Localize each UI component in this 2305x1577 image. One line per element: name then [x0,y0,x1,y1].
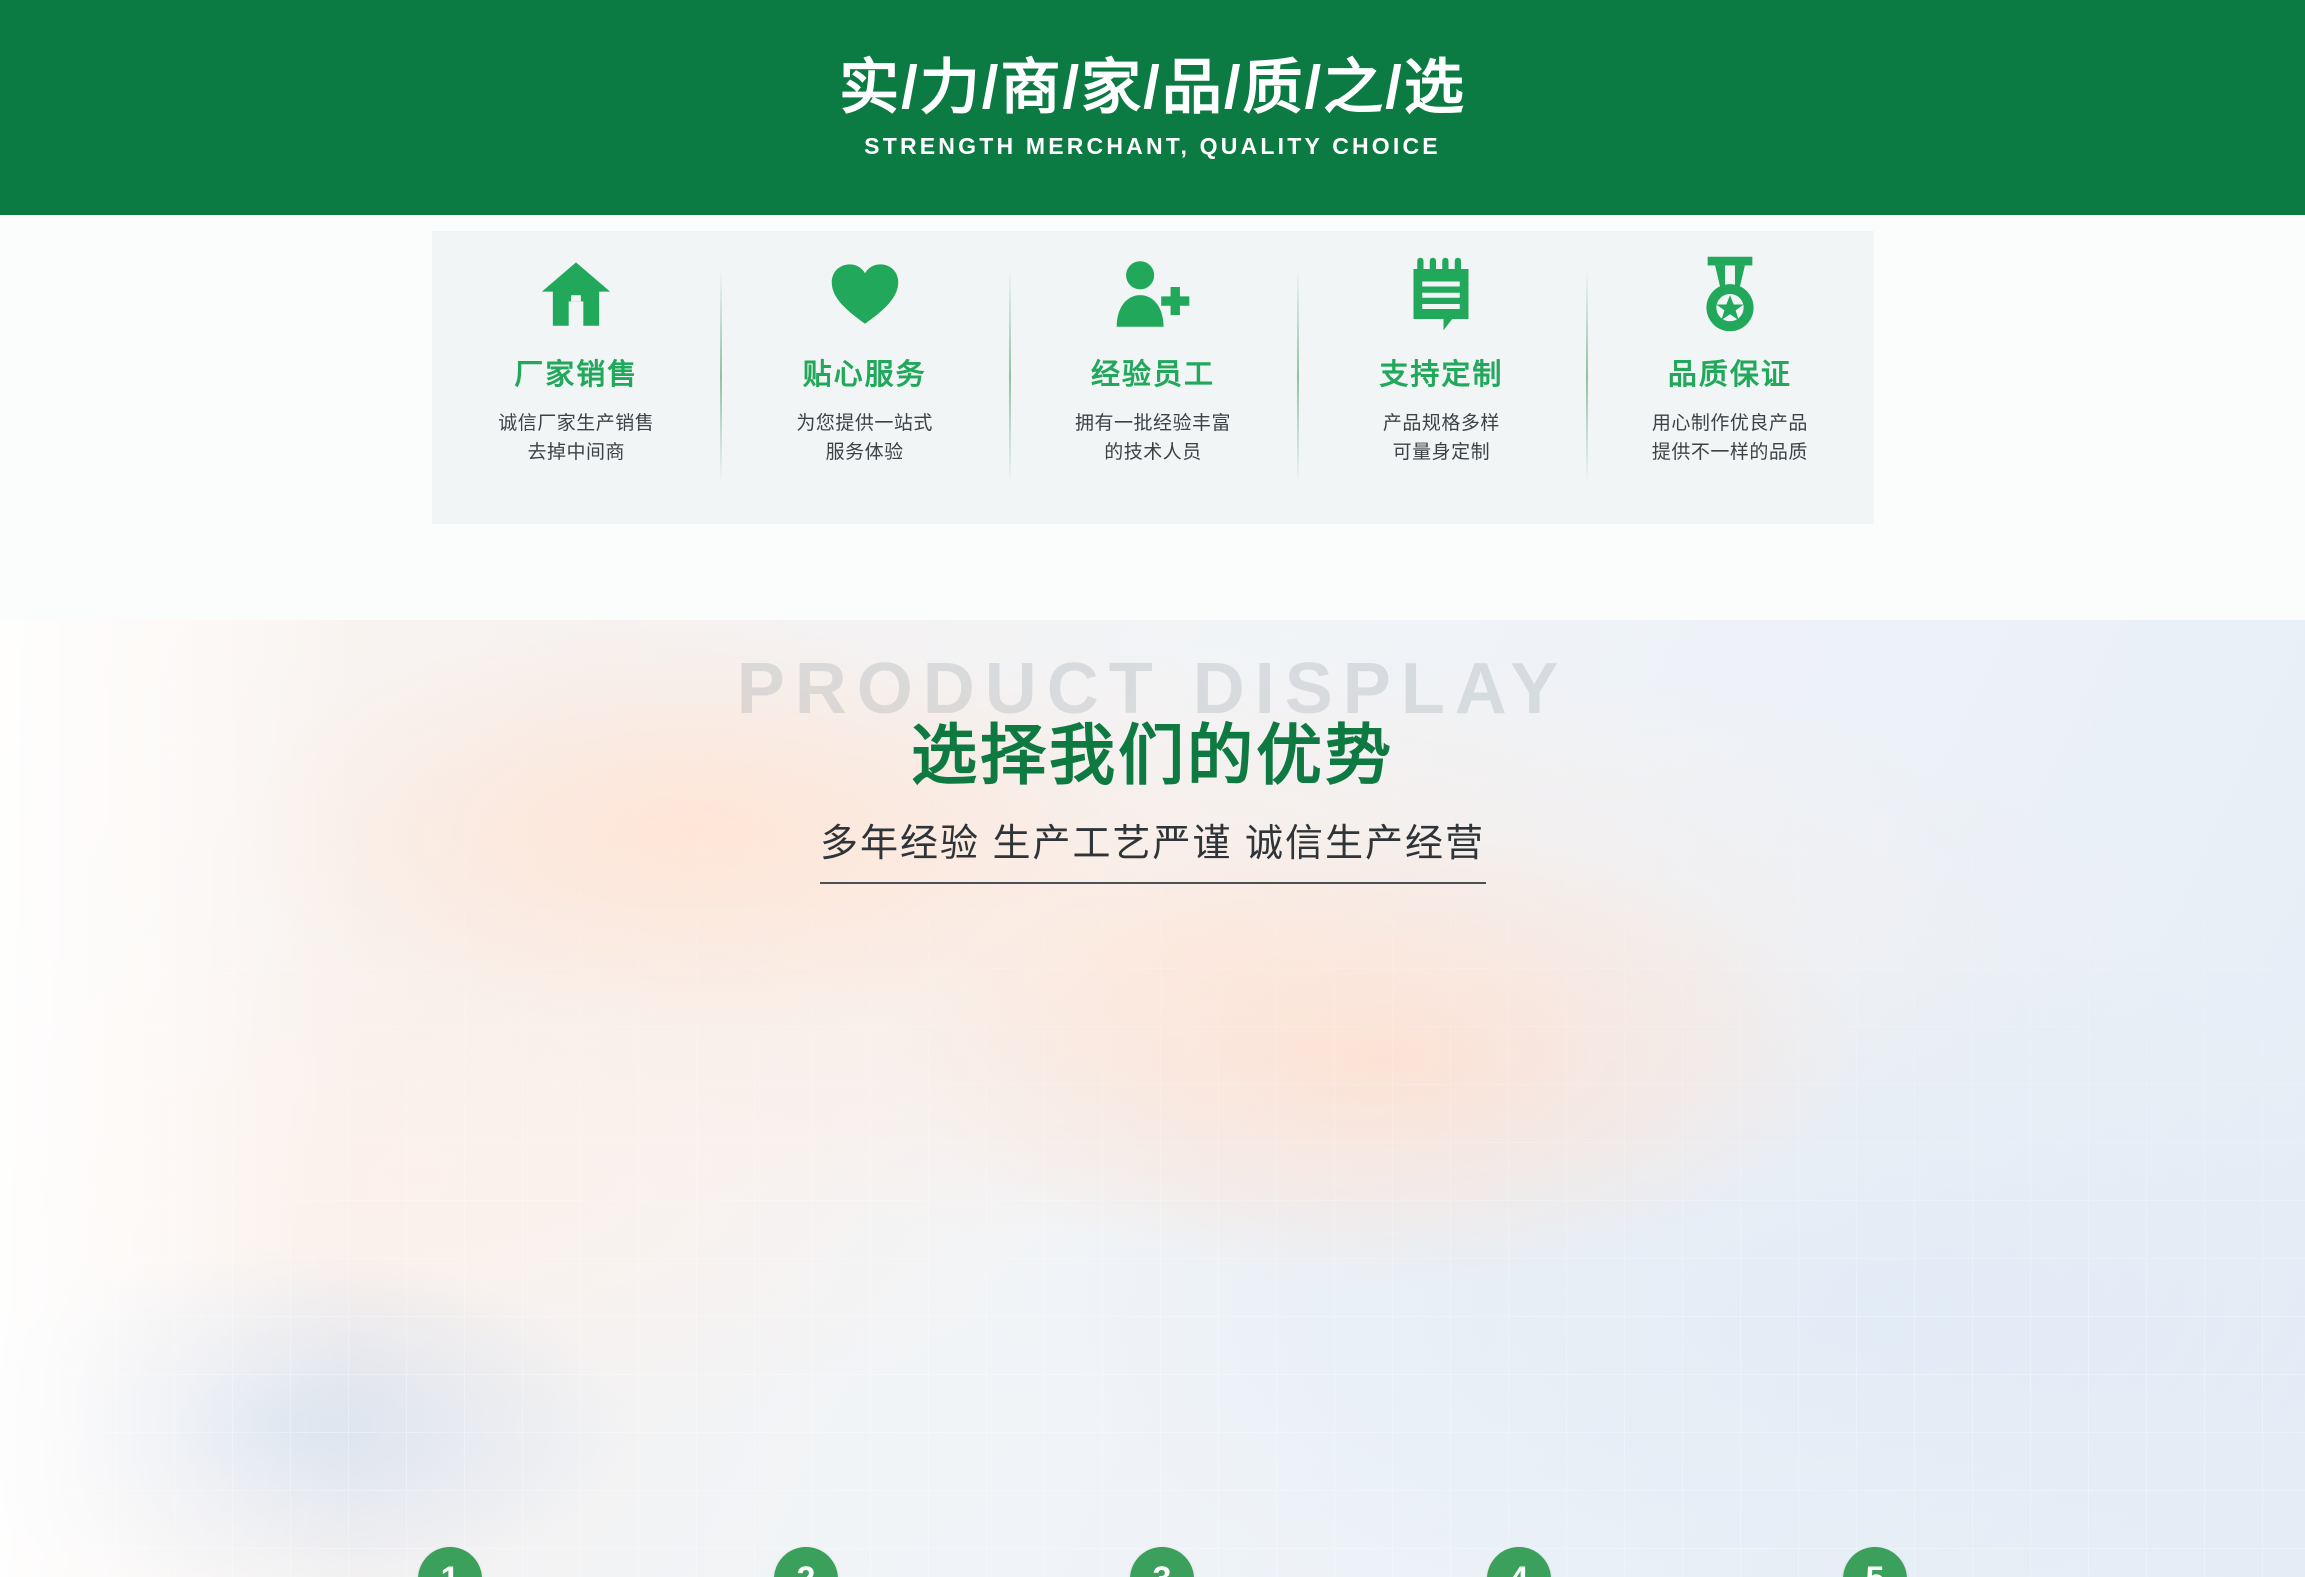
advantages-subtitle: 多年经验 生产工艺严谨 诚信生产经营 [0,812,2305,867]
advantages-title: 选择我们的优势 [0,702,2305,798]
feature-item-experienced-staff[interactable]: 经验员工 拥有一批经验丰富 的技术人员 [1009,231,1297,524]
feature-item-quality-guarantee[interactable]: 品质保证 用心制作优良产品 提供不一样的品质 [1586,231,1874,524]
user-plus-icon [1112,251,1194,337]
feature-desc-line1: 拥有一批经验丰富 [1075,413,1231,434]
feature-desc: 拥有一批经验丰富 的技术人员 [1075,409,1231,468]
feature-item-caring-service[interactable]: 贴心服务 为您提供一站式 服务体验 [720,231,1008,524]
feature-desc-line1: 为您提供一站式 [796,413,933,434]
features-panel: 厂家销售 诚信厂家生产销售 去掉中间商 贴心服务 为您提供一站式 服务体验 [432,231,1874,524]
medal-icon [1694,251,1766,337]
feature-item-custom-support[interactable]: 支持定制 产品规格多样 可量身定制 [1297,231,1585,524]
feature-desc-line2: 去掉中间商 [527,442,625,463]
feature-desc: 诚信厂家生产销售 去掉中间商 [498,409,654,468]
feature-desc: 为您提供一站式 服务体验 [796,409,933,468]
features-section: 厂家销售 诚信厂家生产销售 去掉中间商 贴心服务 为您提供一站式 服务体验 [0,215,2305,620]
house-icon [537,251,615,337]
feature-desc-line2: 提供不一样的品质 [1652,442,1808,463]
feature-item-manufacturer-sales[interactable]: 厂家销售 诚信厂家生产销售 去掉中间商 [432,231,720,524]
feature-desc: 用心制作优良产品 提供不一样的品质 [1652,409,1808,468]
promo-page: 实/力/商/家/品/质/之/选 STRENGTH MERCHANT, QUALI… [0,0,2305,1577]
feature-desc-line1: 诚信厂家生产销售 [498,413,654,434]
feature-desc-line2: 服务体验 [826,442,904,463]
feature-desc-line1: 产品规格多样 [1383,413,1500,434]
feature-desc-line1: 用心制作优良产品 [1652,413,1808,434]
advantages-divider [820,882,1486,884]
feature-title: 支持定制 [1379,351,1503,393]
advantages-section: PRODUCT DISPLAY 选择我们的优势 多年经验 生产工艺严谨 诚信生产… [0,620,2305,1577]
hero-subtitle: STRENGTH MERCHANT, QUALITY CHOICE [864,133,1441,160]
feature-title: 厂家销售 [514,351,638,393]
feature-title: 贴心服务 [803,351,927,393]
feature-desc-line2: 的技术人员 [1104,442,1202,463]
feature-title: 品质保证 [1668,351,1792,393]
hero-banner: 实/力/商/家/品/质/之/选 STRENGTH MERCHANT, QUALI… [0,0,2305,215]
heart-icon [827,251,903,337]
feature-title: 经验员工 [1091,351,1215,393]
feature-desc: 产品规格多样 可量身定制 [1383,409,1500,468]
feature-desc-line2: 可量身定制 [1393,442,1491,463]
hero-title: 实/力/商/家/品/质/之/选 [839,56,1466,119]
notepad-icon [1406,251,1476,337]
